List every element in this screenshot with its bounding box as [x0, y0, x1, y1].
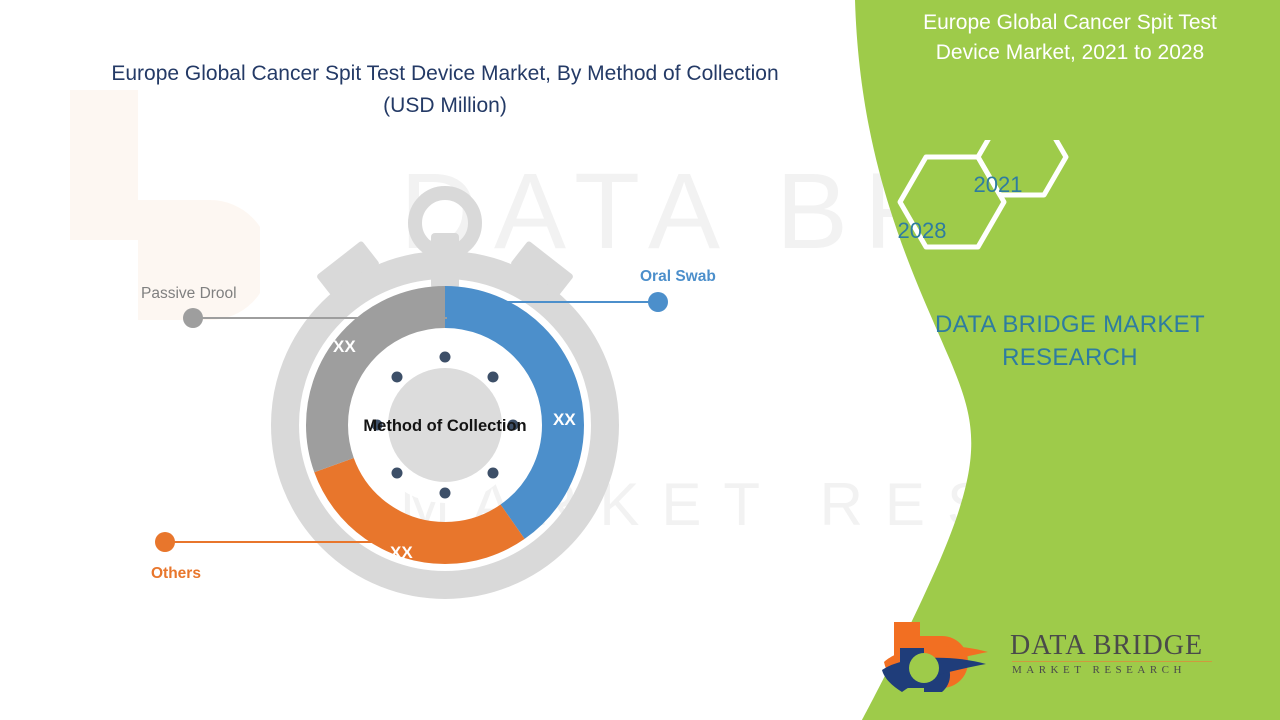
company-logo-text: DATA BRIDGE: [1010, 630, 1203, 662]
company-logo[interactable]: DATA BRIDGE MARKET RESEARCH: [880, 618, 1260, 698]
panel-title: Europe Global Cancer Spit Test Device Ma…: [890, 8, 1250, 68]
year-hexagon-group: 2021 2028: [870, 140, 1170, 280]
donut-chart: Method of Collection XX XX XX: [255, 175, 635, 610]
donut-chart-svg: [255, 175, 635, 610]
chart-title-line-1: Europe Global Cancer Spit Test Device Ma…: [111, 62, 778, 85]
callout-dot-others[interactable]: [155, 532, 175, 552]
infographic-canvas: DATA BRIDGE MARKET RESEARCH Europe Globa…: [0, 0, 1280, 720]
callout-dot-passive-drool[interactable]: [183, 308, 203, 328]
year-hexagon-svg: [870, 140, 1170, 285]
company-logo-mark-icon: [880, 618, 1000, 696]
hexagon-label-2021: 2021: [948, 172, 1048, 198]
callout-label-oral-swab: Oral Swab: [640, 268, 716, 286]
callout-dot-oral-swab[interactable]: [648, 292, 668, 312]
panel-brand-name: DATA BRIDGE MARKET RESEARCH: [880, 308, 1260, 374]
company-logo-subtext: MARKET RESEARCH: [1012, 664, 1186, 676]
green-panel-content: Europe Global Cancer Spit Test Device Ma…: [860, 0, 1280, 720]
panel-title-line-1: Europe Global Cancer Spit Test: [923, 11, 1217, 34]
panel-brand-line-2: RESEARCH: [1002, 344, 1138, 371]
hexagon-label-2028: 2028: [872, 218, 972, 244]
chart-title: Europe Global Cancer Spit Test Device Ma…: [40, 58, 850, 122]
callout-label-passive-drool: Passive Drool: [141, 285, 237, 303]
panel-brand-line-1: DATA BRIDGE MARKET: [935, 311, 1205, 338]
panel-title-line-2: Device Market, 2021 to 2028: [936, 41, 1205, 64]
callout-label-others: Others: [151, 565, 201, 583]
chart-title-line-2: (USD Million): [383, 94, 507, 117]
company-logo-divider: [1012, 661, 1212, 662]
donut-inner-face: [388, 368, 502, 482]
